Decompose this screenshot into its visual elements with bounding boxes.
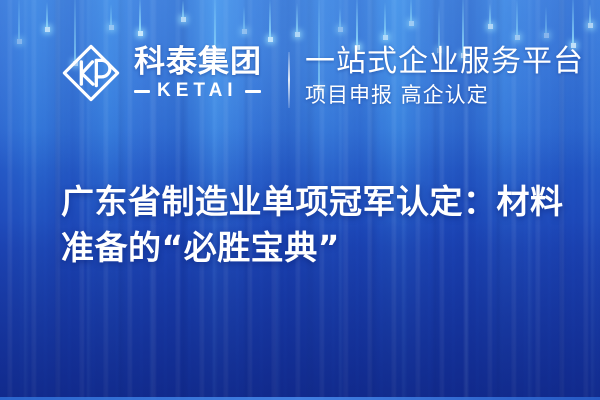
light-streak-icon xyxy=(356,0,358,46)
slogan-secondary: 项目申报 高企认定 xyxy=(305,82,584,108)
wordmark-dash-left xyxy=(134,90,150,93)
light-streak-icon xyxy=(589,4,591,24)
light-streak-icon xyxy=(438,5,440,49)
promo-banner: 科泰集团 KETAI 一站式企业服务平台 项目申报 高企认定 广东省制造业单项冠… xyxy=(0,0,600,400)
light-streak-icon xyxy=(516,0,518,36)
brand-name-cn: 科泰集团 xyxy=(134,45,262,79)
light-streak-icon xyxy=(384,2,386,36)
light-streak-icon xyxy=(410,0,412,22)
light-streak-icon xyxy=(110,4,112,26)
brand-wordmark: 科泰集团 KETAI xyxy=(134,45,262,101)
light-streak-icon xyxy=(296,3,298,33)
light-streak-icon xyxy=(243,6,245,30)
light-streak-icon xyxy=(572,0,574,44)
light-streak-icon xyxy=(545,6,547,34)
brand-logo[interactable]: 科泰集团 KETAI xyxy=(60,42,262,104)
light-streak-icon xyxy=(46,2,48,28)
light-streak-icon xyxy=(182,0,184,18)
ketai-diamond-kp-monogram-icon xyxy=(60,42,122,104)
slogan-block: 一站式企业服务平台 项目申报 高企认定 xyxy=(305,44,584,108)
slogan-primary: 一站式企业服务平台 xyxy=(305,44,584,80)
brand-name-en-row: KETAI xyxy=(134,81,262,101)
logo-slogan-divider xyxy=(288,52,290,108)
light-streak-icon xyxy=(139,0,141,32)
light-streak-icon xyxy=(18,0,20,40)
light-streak-icon xyxy=(339,8,341,28)
brand-name-en: KETAI xyxy=(157,81,238,101)
article-title: 广东省制造业单项冠军认定：材料准备的“必胜宝典” xyxy=(61,179,566,271)
light-streak-icon xyxy=(269,0,271,38)
wordmark-dash-right xyxy=(245,90,261,93)
light-streak-icon xyxy=(489,3,491,25)
